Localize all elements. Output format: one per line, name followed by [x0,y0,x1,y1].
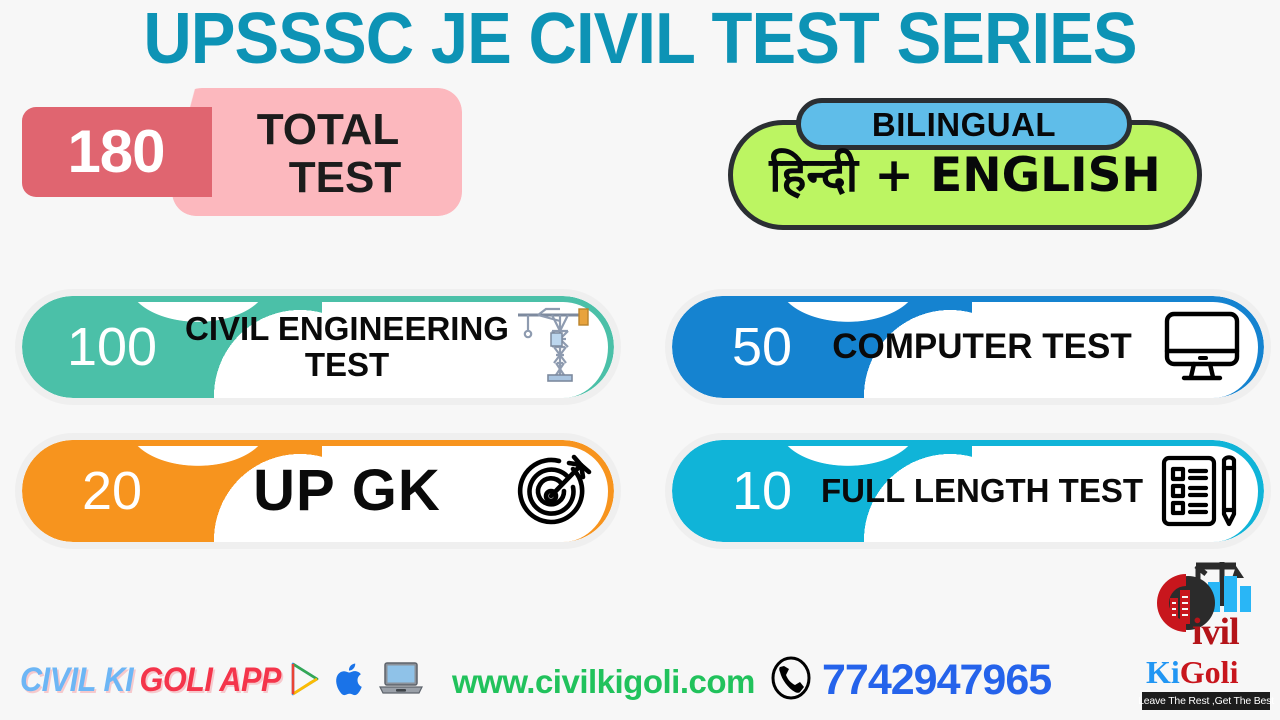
checklist-pencil-icon [1154,440,1250,542]
app-name: CIVIL KI GOLI APP [20,656,245,704]
card-label: CIVIL ENGINEERING TEST [172,296,522,398]
store-icons [288,654,433,708]
card-label: FULL LENGTH TEST [802,440,1162,542]
card-count: 20 [22,440,202,542]
card-label-text: COMPUTER TEST [832,328,1131,366]
phone-contact[interactable]: 7742947965 [770,656,1051,704]
card-up-gk-test[interactable]: 20 UP GK [22,440,614,542]
phone-icon [770,656,812,705]
card-count: 10 [672,440,852,542]
app-name-part2: GOLI APP [139,663,280,697]
total-test-label-line1: TOTAL [257,107,400,153]
total-test-count: 180 [36,107,196,197]
logo-ki-text: Ki [1146,656,1180,688]
crane-icon [504,296,600,398]
google-play-icon[interactable] [288,660,324,703]
page-header: UPSSSC JE CIVIL TEST SERIES [0,0,1280,78]
page-title: UPSSSC JE CIVIL TEST SERIES [143,3,1136,75]
card-full-length-test[interactable]: 10 FULL LENGTH TEST [672,440,1264,542]
monitor-icon [1154,296,1250,398]
logo-goli-text: Goli [1180,656,1239,688]
total-test-badge: 180 TOTAL TEST [22,88,452,216]
logo-wordmark-kigoli: Ki Goli [1146,656,1272,692]
brand-logo: ivil Ki Goli Leave The Rest ,Get The Bes… [1140,562,1272,714]
total-test-label: TOTAL TEST [202,98,454,210]
laptop-icon[interactable] [378,661,424,702]
logo-wordmark-civil: ivil [1192,610,1280,654]
bilingual-badge: BILINGUAL हिन्दी + ENGLISH [728,98,1202,230]
website-link[interactable]: www.civilkigoli.com [452,660,755,702]
card-label-text: UP GK [253,460,441,523]
card-computer-test[interactable]: 50 COMPUTER TEST [672,296,1264,398]
footer: CIVIL KI GOLI APP [0,648,1280,720]
card-label: COMPUTER TEST [802,296,1162,398]
bilingual-language-row: हिन्दी + ENGLISH [728,126,1202,226]
bilingual-main-label: हिन्दी + ENGLISH [769,150,1161,202]
logo-tagline: Leave The Rest ,Get The Best [1142,692,1270,710]
total-test-label-line2: TEST [255,155,401,201]
card-civil-engineering-test[interactable]: 100 CIVIL ENGINEERING TEST [22,296,614,398]
card-label-text: CIVIL ENGINEERING TEST [172,311,522,382]
app-name-part1: CIVIL KI [20,663,133,697]
logo-civil-text: ivil [1192,613,1239,651]
target-icon [504,440,600,542]
card-label: UP GK [172,440,522,542]
card-label-text: FULL LENGTH TEST [821,473,1143,509]
card-count: 50 [672,296,852,398]
apple-icon[interactable] [334,659,368,704]
card-count: 100 [22,296,202,398]
phone-number: 7742947965 [822,659,1051,702]
